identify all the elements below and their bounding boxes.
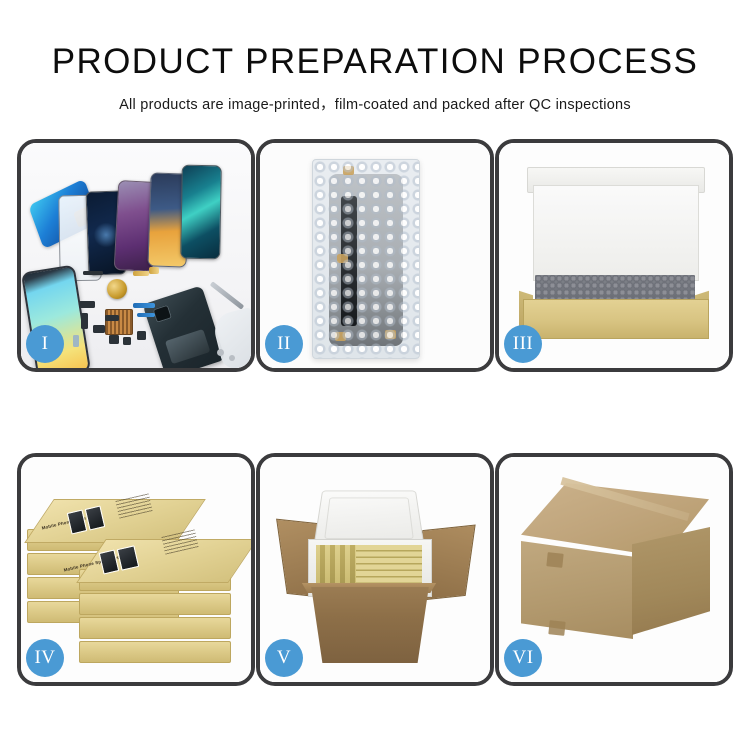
kraft-box-front xyxy=(523,299,709,339)
step-panel-4[interactable]: Mobile Phone Spare Parts Mobile Phone Sp… xyxy=(17,453,255,686)
screw-part xyxy=(217,349,224,356)
box-edge xyxy=(79,593,231,615)
step-badge-6: VI xyxy=(504,639,542,677)
small-part xyxy=(73,335,79,347)
bubble-wrap-bag xyxy=(312,159,420,359)
small-part xyxy=(93,325,105,333)
carton-front-face xyxy=(521,541,633,639)
page-title: PRODUCT PREPARATION PROCESS xyxy=(0,44,750,79)
small-part xyxy=(123,337,131,345)
small-part xyxy=(81,313,88,329)
phone-teal xyxy=(180,165,222,260)
small-part xyxy=(137,331,146,340)
screw-part xyxy=(229,355,235,361)
gray-foam-padding xyxy=(535,275,695,301)
step-panel-5[interactable]: V xyxy=(256,453,494,686)
step-panel-6[interactable]: VI xyxy=(495,453,733,686)
step-panel-1[interactable]: I xyxy=(17,139,255,372)
flex-cable-part xyxy=(137,313,155,317)
step-badge-4: IV xyxy=(26,639,64,677)
step-badge-2: II xyxy=(265,325,303,363)
step-badge-3: III xyxy=(504,325,542,363)
box-edge xyxy=(79,617,231,639)
copper-coil-part xyxy=(107,279,127,299)
small-part xyxy=(133,271,149,276)
box-edge xyxy=(79,641,231,663)
box-inner-back-foam xyxy=(533,185,699,281)
small-part xyxy=(149,267,159,274)
page-subtitle: All products are image-printed，film-coat… xyxy=(0,93,750,114)
carton-tape-piece xyxy=(546,552,563,568)
small-part xyxy=(105,315,119,321)
small-part xyxy=(109,335,119,344)
carton-body xyxy=(300,587,440,663)
chip-grid-part xyxy=(105,309,133,335)
step-panel-3[interactable]: III xyxy=(495,139,733,372)
small-part xyxy=(83,271,103,275)
step-badge-5: V xyxy=(265,639,303,677)
process-step-grid: I II III xyxy=(17,139,733,686)
step-panel-2[interactable]: II xyxy=(256,139,494,372)
flex-cable-part xyxy=(133,303,155,308)
carton-tape-piece xyxy=(548,620,565,636)
step-badge-1: I xyxy=(26,325,64,363)
page-header: PRODUCT PREPARATION PROCESS All products… xyxy=(0,0,750,114)
packed-kraft-boxes xyxy=(316,545,422,589)
small-part xyxy=(79,301,95,308)
